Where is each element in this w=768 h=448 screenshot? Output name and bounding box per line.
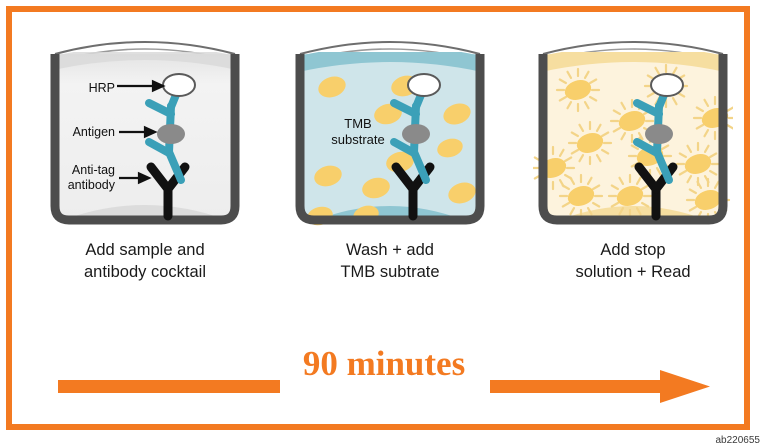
label-anti-tag-line-1: Anti-tag <box>27 163 115 178</box>
well-3 <box>533 28 733 233</box>
caption-1-line-1: Add sample and <box>31 240 259 262</box>
label-antigen: Antigen <box>27 125 115 140</box>
label-anti-tag-antibody: Anti-tag antibody <box>27 163 115 192</box>
label-tmb-line-2: substrate <box>312 132 404 148</box>
caption-3-line-1: Add stop <box>519 240 747 262</box>
label-tmb-line-1: TMB <box>312 116 404 132</box>
caption-3-line-2: solution + Read <box>519 262 747 284</box>
label-hrp: HRP <box>37 81 115 96</box>
panel-add-sample: HRP Antigen Anti-tag antibody Add sample… <box>45 28 245 328</box>
timeline-label: 90 minutes <box>0 344 768 384</box>
antigen-icon <box>402 124 430 144</box>
hrp-icon <box>408 74 440 96</box>
caption-panel-3: Add stop solution + Read <box>519 240 747 284</box>
antibody-complex-3 <box>533 28 733 233</box>
caption-panel-1: Add sample and antibody cocktail <box>31 240 259 284</box>
hrp-icon <box>651 74 683 96</box>
panel-wash-add-tmb: TMB substrate Wash + add TMB subtrate <box>290 28 490 328</box>
caption-2-line-2: TMB subtrate <box>276 262 504 284</box>
caption-panel-2: Wash + add TMB subtrate <box>276 240 504 284</box>
watermark: ab220655 <box>716 435 761 446</box>
well-1: HRP Antigen Anti-tag antibody <box>45 28 245 233</box>
label-tmb-substrate: TMB substrate <box>312 116 404 147</box>
label-anti-tag-line-2: antibody <box>27 178 115 193</box>
panels-row: HRP Antigen Anti-tag antibody Add sample… <box>0 0 768 320</box>
well-2: TMB substrate <box>290 28 490 233</box>
antigen-icon <box>645 124 673 144</box>
panel-add-stop-solution: Add stop solution + Read <box>533 28 733 328</box>
caption-1-line-2: antibody cocktail <box>31 262 259 284</box>
caption-2-line-1: Wash + add <box>276 240 504 262</box>
diagram-stage: HRP Antigen Anti-tag antibody Add sample… <box>0 0 768 448</box>
timeline: 90 minutes <box>0 344 768 404</box>
